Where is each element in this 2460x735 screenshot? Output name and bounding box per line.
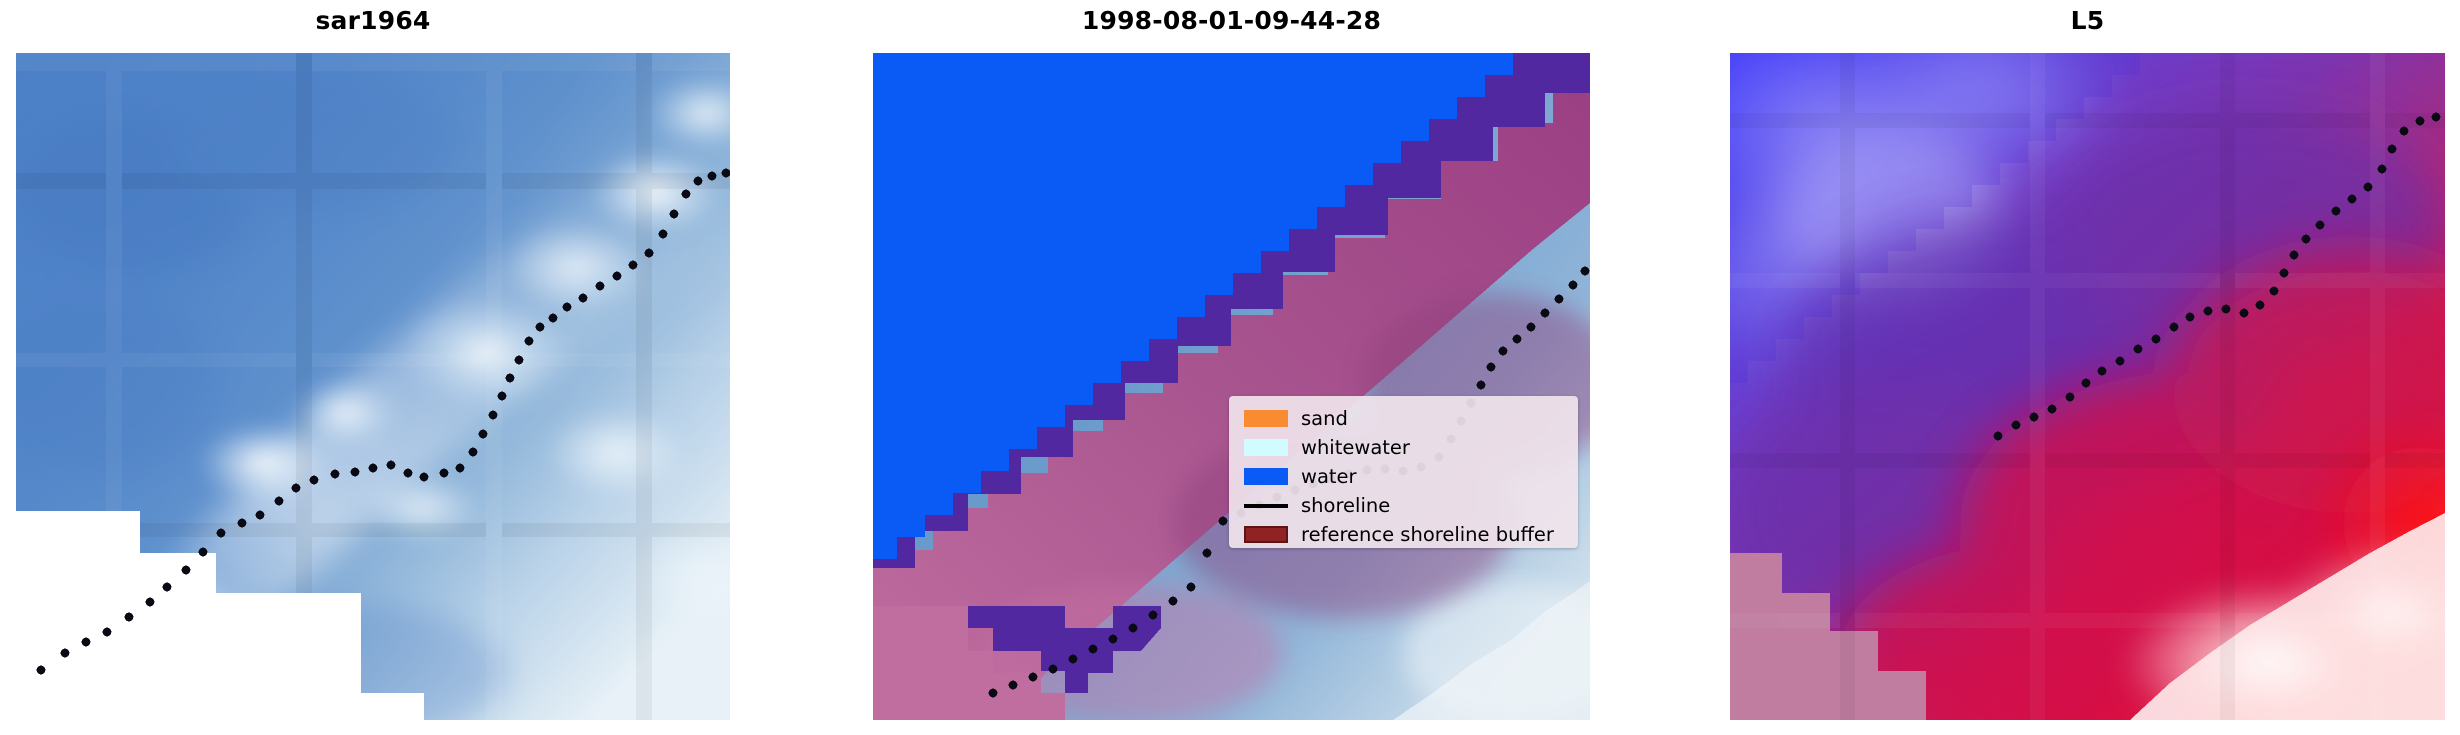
legend-label-sand: sand (1293, 408, 1348, 430)
sand-swatch-icon (1239, 410, 1293, 427)
panel-classification: 1998-08-01-09-44-28 (873, 0, 1590, 735)
panel-title-sar1964: sar1964 (16, 4, 730, 38)
whitewater-swatch-icon (1239, 439, 1293, 456)
legend-label-water: water (1293, 466, 1357, 488)
panel-l5: L5 (1730, 0, 2445, 735)
legend-label-shoreline: shoreline (1293, 495, 1390, 517)
legend-item-sand[interactable]: sand (1239, 404, 1568, 433)
shoreline-line-icon (1239, 504, 1293, 508)
panel-title-classification: 1998-08-01-09-44-28 (873, 4, 1590, 38)
panel-sar1964: sar1964 (16, 0, 730, 735)
panel-title-l5: L5 (1730, 4, 2445, 38)
reference-buffer-swatch-icon (1239, 526, 1293, 543)
figure-canvas: sar1964 (0, 0, 2460, 735)
legend-item-water[interactable]: water (1239, 462, 1568, 491)
axes-l5[interactable] (1730, 53, 2445, 720)
water-swatch-icon (1239, 468, 1293, 485)
axes-classification[interactable] (873, 53, 1590, 720)
legend-item-whitewater[interactable]: whitewater (1239, 433, 1568, 462)
legend-item-shoreline[interactable]: shoreline (1239, 491, 1568, 520)
legend-item-reference-buffer[interactable]: reference shoreline buffer (1239, 520, 1568, 549)
legend-label-whitewater: whitewater (1293, 437, 1410, 459)
map-legend[interactable]: sand whitewater water shoreline referenc (1229, 396, 1578, 548)
legend-label-reference-buffer: reference shoreline buffer (1293, 524, 1554, 546)
axes-sar1964[interactable] (16, 53, 730, 720)
